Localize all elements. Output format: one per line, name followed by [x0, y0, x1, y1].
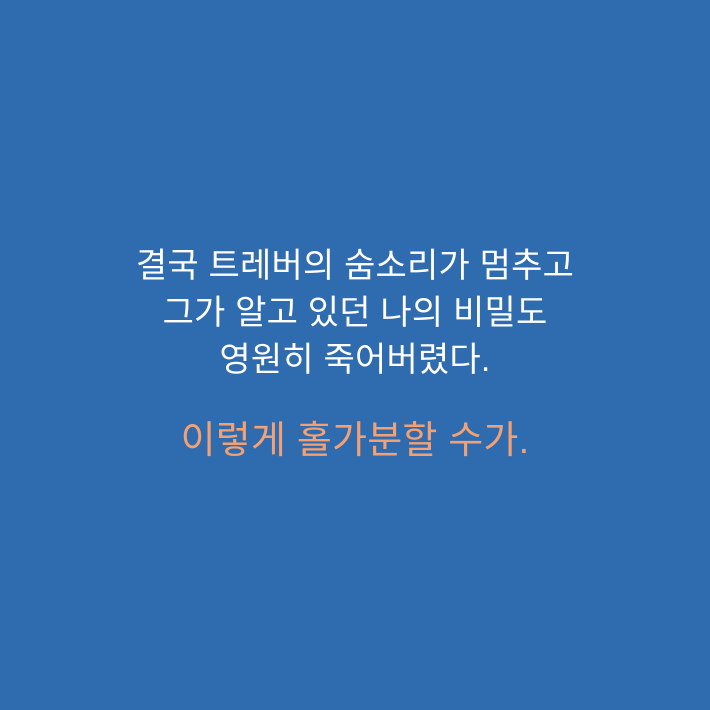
- quote-body-line-3: 영원히 죽어버렸다.: [219, 337, 490, 384]
- quote-body-line-1: 결국 트레버의 숨소리가 멈추고: [136, 243, 574, 290]
- quote-card: 결국 트레버의 숨소리가 멈추고 그가 알고 있던 나의 비밀도 영원히 죽어버…: [0, 0, 710, 710]
- quote-body-paragraph: 결국 트레버의 숨소리가 멈추고 그가 알고 있던 나의 비밀도 영원히 죽어버…: [136, 243, 574, 384]
- quote-text-block: 결국 트레버의 숨소리가 멈추고 그가 알고 있던 나의 비밀도 영원히 죽어버…: [0, 243, 710, 465]
- quote-body-line-2: 그가 알고 있던 나의 비밀도: [163, 290, 548, 337]
- quote-emphasis-paragraph: 이렇게 홀가분할 수가.: [181, 417, 530, 465]
- quote-emphasis-line-1: 이렇게 홀가분할 수가.: [181, 417, 530, 465]
